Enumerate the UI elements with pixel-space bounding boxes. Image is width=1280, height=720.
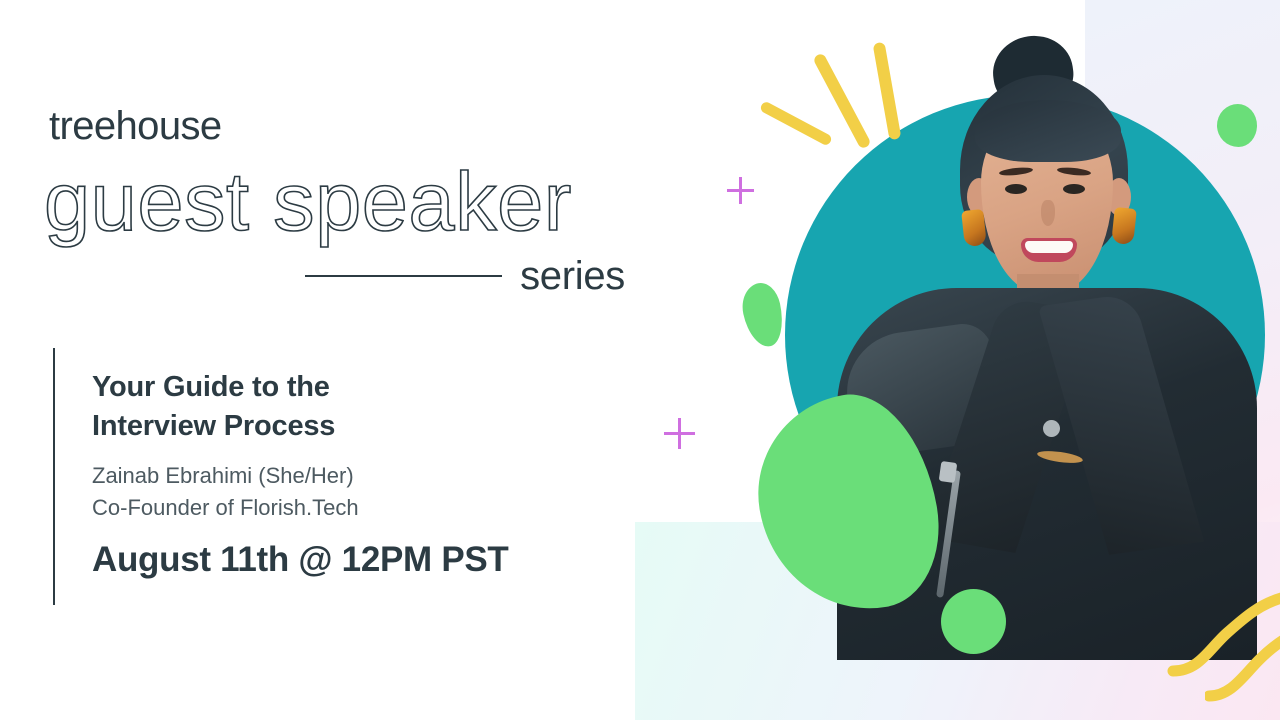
eye-left (1005, 184, 1027, 194)
green-dot-bottom (941, 589, 1006, 654)
series-row: series (305, 256, 625, 296)
nose (1041, 200, 1055, 226)
event-info-block: Your Guide to the Interview Process Zain… (92, 368, 612, 579)
hair-fringe (975, 100, 1121, 162)
talk-title: Your Guide to the Interview Process (92, 368, 612, 446)
speaker-role: Co-Founder of Florish.Tech (92, 492, 612, 523)
jacket-zipper-pull (939, 461, 958, 483)
brand-wordmark: treehouse (49, 106, 222, 146)
eye-right (1063, 184, 1085, 194)
jacket-stud (1043, 420, 1060, 437)
speaker-name: Zainab Ebrahimi (She/Her) (92, 460, 612, 491)
series-label: series (520, 256, 625, 296)
mouth (1021, 238, 1077, 262)
event-date-time: August 11th @ 12PM PST (92, 541, 612, 580)
teeth (1025, 241, 1073, 253)
plus-icon (727, 177, 754, 204)
series-divider-rule (305, 275, 502, 277)
headline-outline-text: guest speaker (44, 160, 572, 243)
vertical-accent-bar (53, 348, 55, 605)
yellow-wave-icon (1205, 610, 1280, 710)
plus-icon (664, 418, 695, 449)
earring-right (1111, 207, 1137, 245)
slide-canvas: treehouse guest speaker series Your Guid… (0, 0, 1280, 720)
earring-left (961, 209, 987, 247)
